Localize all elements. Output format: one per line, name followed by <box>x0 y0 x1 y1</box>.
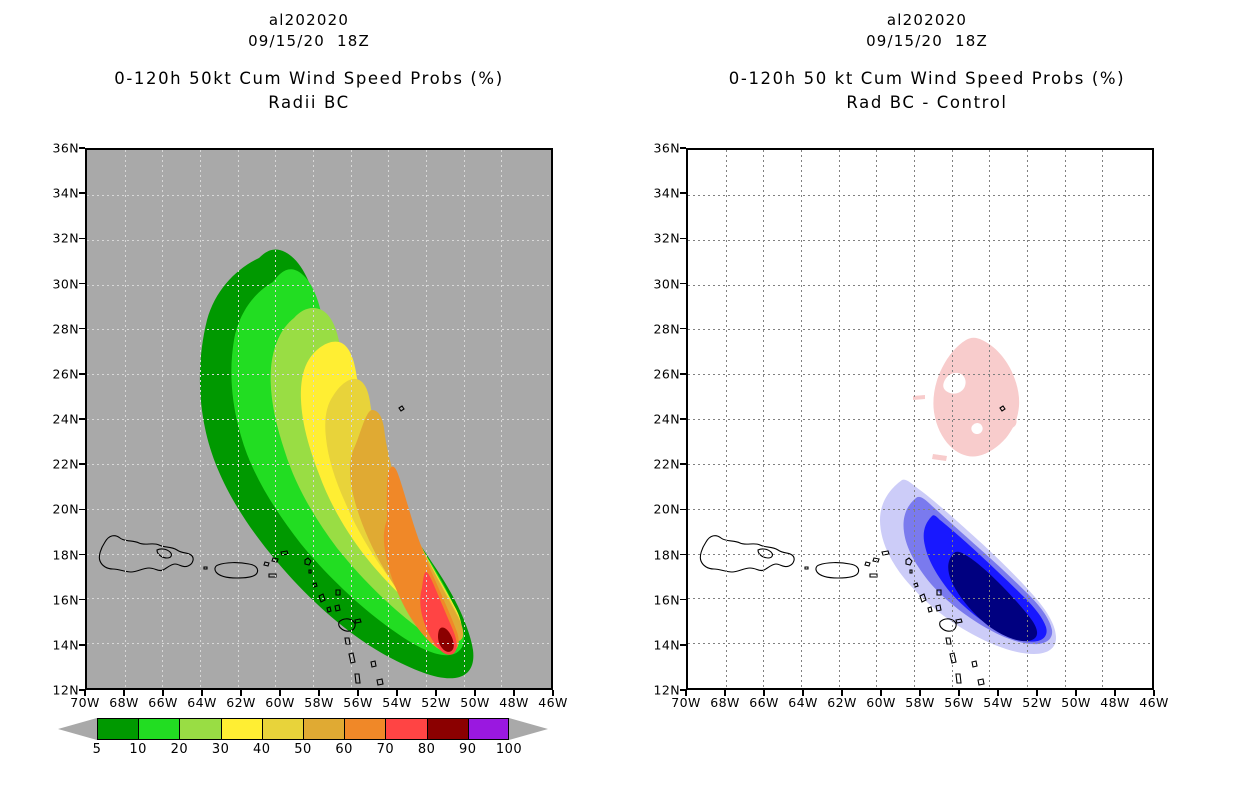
right-ytick-mark <box>680 554 686 556</box>
left-xtick-label: 46W <box>538 695 567 710</box>
right-xtick-mark <box>1075 690 1077 696</box>
left-xtick-mark <box>84 690 86 696</box>
right-xtick-mark <box>685 690 687 696</box>
left-datetime: 09/15/20 18Z <box>0 31 618 52</box>
right-ytick-label: 18N <box>634 547 680 562</box>
left-ytick-mark <box>79 328 85 330</box>
left-xtick-label: 54W <box>382 695 411 710</box>
left-ytick-label: 34N <box>33 186 79 201</box>
left-colorbar-tick-label: 40 <box>253 742 271 757</box>
right-ytick-label: 36N <box>634 141 680 156</box>
left-map-plot <box>85 148 553 690</box>
left-ytick-mark <box>79 283 85 285</box>
left-colorbar-tick-label: 20 <box>171 742 189 757</box>
left-xtick-mark <box>513 690 515 696</box>
right-ytick-mark <box>680 418 686 420</box>
left-colorbar-tick-label: 100 <box>496 742 522 757</box>
left-ytick-mark <box>79 192 85 194</box>
right-xtick-label: 50W <box>1061 695 1090 710</box>
right-xtick-label: 68W <box>710 695 739 710</box>
left-xtick-mark <box>435 690 437 696</box>
left-xtick-label: 48W <box>499 695 528 710</box>
right-xtick-mark <box>1036 690 1038 696</box>
left-ytick-mark <box>79 509 85 511</box>
left-ytick-mark <box>79 238 85 240</box>
left-xtick-mark <box>474 690 476 696</box>
right-ytick-label: 32N <box>634 231 680 246</box>
right-title-line1: 0-120h 50 kt Cum Wind Speed Probs (%) <box>618 67 1236 91</box>
right-gridline-h <box>688 240 1152 241</box>
left-gridline-h <box>87 464 551 465</box>
left-colorbar-segment[interactable] <box>344 718 385 740</box>
left-colorbar-tick-label: 50 <box>294 742 312 757</box>
left-colorbar-segment[interactable] <box>97 718 138 740</box>
left-xtick-label: 64W <box>187 695 216 710</box>
left-ytick-label: 14N <box>33 637 79 652</box>
left-storm-id: al202020 <box>0 10 618 31</box>
left-gridline-h <box>87 195 551 196</box>
right-xtick-label: 46W <box>1139 695 1168 710</box>
left-colorbar-segment[interactable] <box>138 718 179 740</box>
right-xtick-label: 66W <box>749 695 778 710</box>
right-xtick-mark <box>802 690 804 696</box>
right-ytick-mark <box>680 373 686 375</box>
left-title-line1: 0-120h 50kt Cum Wind Speed Probs (%) <box>0 67 618 91</box>
right-xtick-label: 64W <box>788 695 817 710</box>
left-gridline-h <box>87 374 551 375</box>
right-ytick-mark <box>680 192 686 194</box>
right-plot-clip <box>688 150 1152 688</box>
right-ytick-mark <box>680 463 686 465</box>
left-gridline-h <box>87 554 551 555</box>
left-gridline-h <box>87 509 551 510</box>
left-ytick-label: 28N <box>33 321 79 336</box>
left-ytick-mark <box>79 599 85 601</box>
left-ytick-label: 36N <box>33 141 79 156</box>
right-xtick-mark <box>919 690 921 696</box>
left-colorbar: 5102030405060708090100 <box>58 718 548 740</box>
right-xtick-mark <box>724 690 726 696</box>
left-gridline-h <box>87 285 551 286</box>
right-ytick-label: 20N <box>634 502 680 517</box>
left-colorbar-over-arrow <box>509 718 548 740</box>
left-ytick-mark <box>79 554 85 556</box>
right-gridline-h <box>688 195 1152 196</box>
left-ytick-mark <box>79 147 85 149</box>
right-ytick-mark <box>680 644 686 646</box>
left-colorbar-segment[interactable] <box>179 718 220 740</box>
right-xtick-label: 56W <box>944 695 973 710</box>
left-ytick-label: 16N <box>33 592 79 607</box>
right-xtick-mark <box>763 690 765 696</box>
left-xtick-mark <box>318 690 320 696</box>
left-colorbar-tick-label: 10 <box>129 742 147 757</box>
left-xtick-mark <box>279 690 281 696</box>
left-colorbar-segment[interactable] <box>427 718 468 740</box>
right-xtick-mark <box>841 690 843 696</box>
right-xtick-mark <box>958 690 960 696</box>
left-colorbar-segment[interactable] <box>385 718 426 740</box>
left-plot-clip <box>87 150 551 688</box>
left-title-line2: Radii BC <box>0 91 618 115</box>
left-xtick-mark <box>123 690 125 696</box>
left-xtick-mark <box>396 690 398 696</box>
right-ytick-mark <box>680 238 686 240</box>
left-xtick-label: 56W <box>343 695 372 710</box>
right-ytick-label: 34N <box>634 186 680 201</box>
panel-rad-bc-control: al202020 09/15/20 18Z 0-120h 50 kt Cum W… <box>618 0 1236 800</box>
right-datetime: 09/15/20 18Z <box>618 31 1236 52</box>
right-xtick-label: 54W <box>983 695 1012 710</box>
right-xtick-label: 62W <box>827 695 856 710</box>
left-gridline-h <box>87 419 551 420</box>
right-ytick-label: 26N <box>634 366 680 381</box>
left-ytick-label: 22N <box>33 457 79 472</box>
right-gridline-h <box>688 419 1152 420</box>
right-ytick-mark <box>680 599 686 601</box>
right-ytick-label: 30N <box>634 276 680 291</box>
left-xtick-mark <box>552 690 554 696</box>
right-ytick-mark <box>680 283 686 285</box>
left-ytick-label: 24N <box>33 412 79 427</box>
left-gridline-h <box>87 329 551 330</box>
right-ytick-mark <box>680 328 686 330</box>
left-ytick-mark <box>79 418 85 420</box>
right-map-plot <box>686 148 1154 690</box>
right-xtick-mark <box>880 690 882 696</box>
left-ytick-mark <box>79 463 85 465</box>
right-ytick-mark <box>680 509 686 511</box>
right-storm-id: al202020 <box>618 10 1236 31</box>
right-xtick-label: 70W <box>671 695 700 710</box>
left-gridline-h <box>87 643 551 644</box>
right-titles: al202020 09/15/20 18Z 0-120h 50 kt Cum W… <box>618 10 1236 115</box>
left-gridline-h <box>87 598 551 599</box>
right-xtick-label: 58W <box>905 695 934 710</box>
right-xtick-mark <box>1114 690 1116 696</box>
right-title-line2: Rad BC - Control <box>618 91 1236 115</box>
left-xtick-mark <box>357 690 359 696</box>
left-ytick-label: 26N <box>33 366 79 381</box>
left-colorbar-tick-label: 80 <box>418 742 436 757</box>
left-xtick-mark <box>162 690 164 696</box>
left-colorbar-under-arrow <box>58 718 97 740</box>
right-ytick-label: 22N <box>634 457 680 472</box>
right-xtick-label: 52W <box>1022 695 1051 710</box>
panel-radii-bc: al202020 09/15/20 18Z 0-120h 50kt Cum Wi… <box>0 0 618 800</box>
left-xtick-mark <box>240 690 242 696</box>
left-colorbar-tick-label: 90 <box>459 742 477 757</box>
left-xtick-label: 66W <box>148 695 177 710</box>
left-ytick-mark <box>79 373 85 375</box>
left-colorbar-tick-label: 70 <box>377 742 395 757</box>
left-colorbar-tick-label: 5 <box>93 742 102 757</box>
left-xtick-label: 70W <box>70 695 99 710</box>
left-xtick-label: 68W <box>109 695 138 710</box>
right-ytick-label: 24N <box>634 412 680 427</box>
left-xtick-label: 50W <box>460 695 489 710</box>
right-ytick-label: 16N <box>634 592 680 607</box>
left-xtick-label: 58W <box>304 695 333 710</box>
right-xtick-label: 48W <box>1100 695 1129 710</box>
right-gridline-h <box>688 329 1152 330</box>
right-gridline-h <box>688 598 1152 599</box>
left-xtick-label: 60W <box>265 695 294 710</box>
left-ytick-label: 32N <box>33 231 79 246</box>
left-titles: al202020 09/15/20 18Z 0-120h 50kt Cum Wi… <box>0 10 618 115</box>
left-ytick-label: 30N <box>33 276 79 291</box>
right-ytick-mark <box>680 147 686 149</box>
left-colorbar-segment[interactable] <box>303 718 344 740</box>
right-ytick-label: 28N <box>634 321 680 336</box>
right-xtick-mark <box>997 690 999 696</box>
left-gridline-h <box>87 240 551 241</box>
right-xtick-mark <box>1153 690 1155 696</box>
left-colorbar-segment[interactable] <box>262 718 303 740</box>
left-ytick-label: 20N <box>33 502 79 517</box>
right-gridline-h <box>688 464 1152 465</box>
left-colorbar-tick-label: 60 <box>335 742 353 757</box>
right-ytick-label: 14N <box>634 637 680 652</box>
right-gridline-h <box>688 554 1152 555</box>
right-gridline-h <box>688 285 1152 286</box>
right-gridline-h <box>688 374 1152 375</box>
left-colorbar-segment[interactable] <box>468 718 509 740</box>
left-xtick-mark <box>201 690 203 696</box>
left-ytick-mark <box>79 644 85 646</box>
left-colorbar-tick-label: 30 <box>212 742 230 757</box>
figure-root: al202020 09/15/20 18Z 0-120h 50kt Cum Wi… <box>0 0 1236 800</box>
right-xtick-label: 60W <box>866 695 895 710</box>
right-gridline-h <box>688 509 1152 510</box>
right-gridline-h <box>688 643 1152 644</box>
left-xtick-label: 62W <box>226 695 255 710</box>
left-xtick-label: 52W <box>421 695 450 710</box>
left-colorbar-segment[interactable] <box>221 718 262 740</box>
left-ytick-label: 18N <box>33 547 79 562</box>
